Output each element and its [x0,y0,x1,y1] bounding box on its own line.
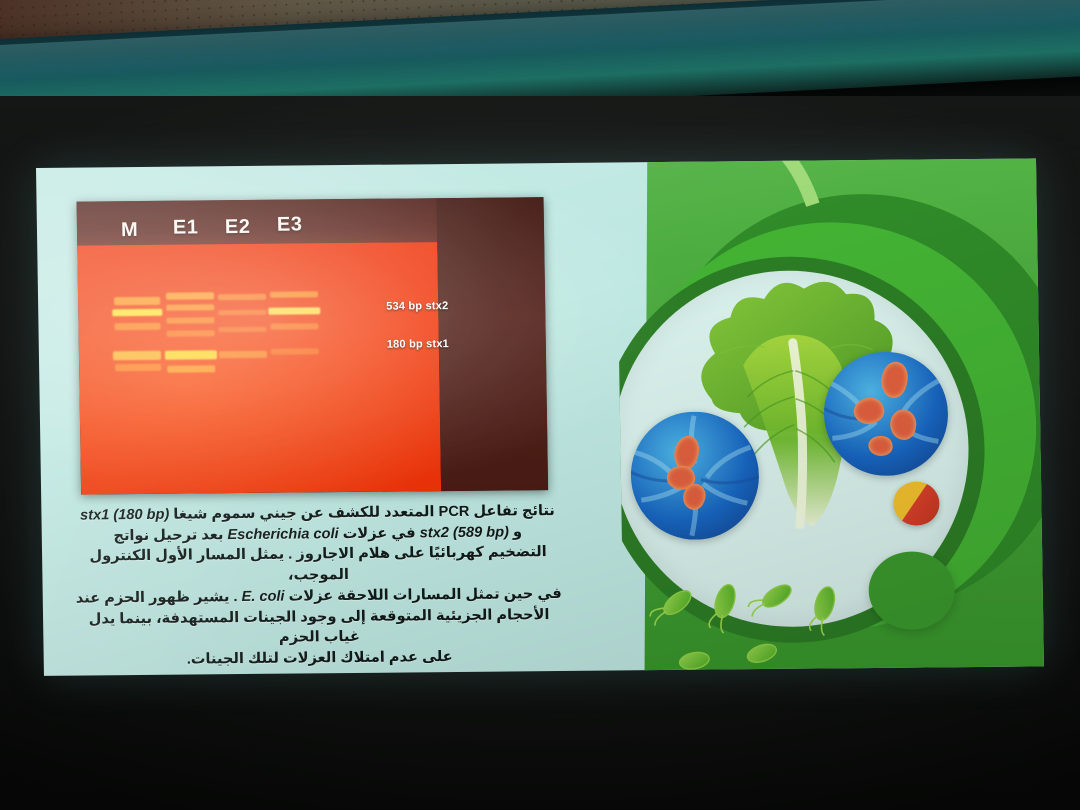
gel-band [219,351,267,358]
caption-text-latin: stx1 (180 bp) [80,507,169,524]
gel-band [270,291,318,297]
caption-text-ar: بعد ترحيل نواتج [113,527,227,544]
gel-band [112,309,162,316]
caption-text-ar: التضخيم كهربائيًا على هلام الاجاروز . يم… [89,545,546,584]
gel-band [166,317,214,323]
bp-label-stx1: 180 bp stx1 [387,338,449,351]
microscopy-circle-left [630,411,760,540]
tomato-slice [893,481,940,525]
caption-line: على عدم امتلاك العزلات لتلك الجينات. [70,646,570,672]
gel-band [218,294,266,300]
gel-band [271,348,319,354]
caption-text-ar: و [509,524,522,540]
gel-band [114,323,160,330]
gel-band [268,307,320,314]
caption-text-latin: E. coli [241,589,284,605]
caption-text-ar: على عدم امتلاك العزلات لتلك الجينات. [187,649,453,668]
projected-slide: M E1 E2 E3 [36,158,1044,676]
caption-text-ar: الأحجام الجزيئية المتوقعة إلى وجود الجين… [89,607,550,646]
gel-band [167,365,215,372]
gel-band [165,350,217,359]
bacteria-row [645,579,946,670]
gel-band [270,323,318,329]
caption-text-ar: نتائج تفاعل [469,503,555,520]
bp-label-stx2: 534 bp stx2 [386,300,448,313]
gel-band [218,310,266,315]
caption-line: الأحجام الجزيئية المتوقعة إلى وجود الجين… [69,604,570,650]
photo-scene: M E1 E2 E3 [0,0,1080,810]
caption-line: التضخيم كهربائيًا على هلام الاجاروز . يم… [68,542,569,588]
gel-band [219,327,267,332]
microscopy-circle-right [823,351,949,476]
figure-caption: نتائج تفاعل PCR المتعدد للكشف عن جيني سم… [67,501,570,672]
gel-band [167,330,215,336]
caption-text-latin: PCR [438,504,469,520]
gel-dark-background [437,197,549,491]
caption-text-ar: في عزلات [339,525,420,542]
gel-band [166,304,214,310]
gel-band [115,364,161,371]
caption-text-latin: Escherichia coli [227,526,338,543]
lane-label-e3: E3 [277,213,303,236]
gel-band [113,351,161,360]
caption-text-ar: . يشير ظهور الحزم عند [76,589,242,607]
caption-text-ar: في حين تمثل المسارات اللاحقة عزلات [284,586,561,605]
lane-label-m: M [121,219,139,242]
caption-text-latin: stx2 (589 bp) [420,524,509,541]
caption-text-ar: المتعدد للكشف عن جيني سموم شيغا [169,504,438,523]
slide-graphic-panel [616,158,1044,670]
gel-band [166,292,214,299]
lane-label-e2: E2 [225,216,251,239]
lane-label-e1: E1 [173,216,199,239]
gel-band [114,297,160,305]
gel-image: M E1 E2 E3 [77,197,549,494]
slide-canvas: M E1 E2 E3 [36,158,1044,676]
